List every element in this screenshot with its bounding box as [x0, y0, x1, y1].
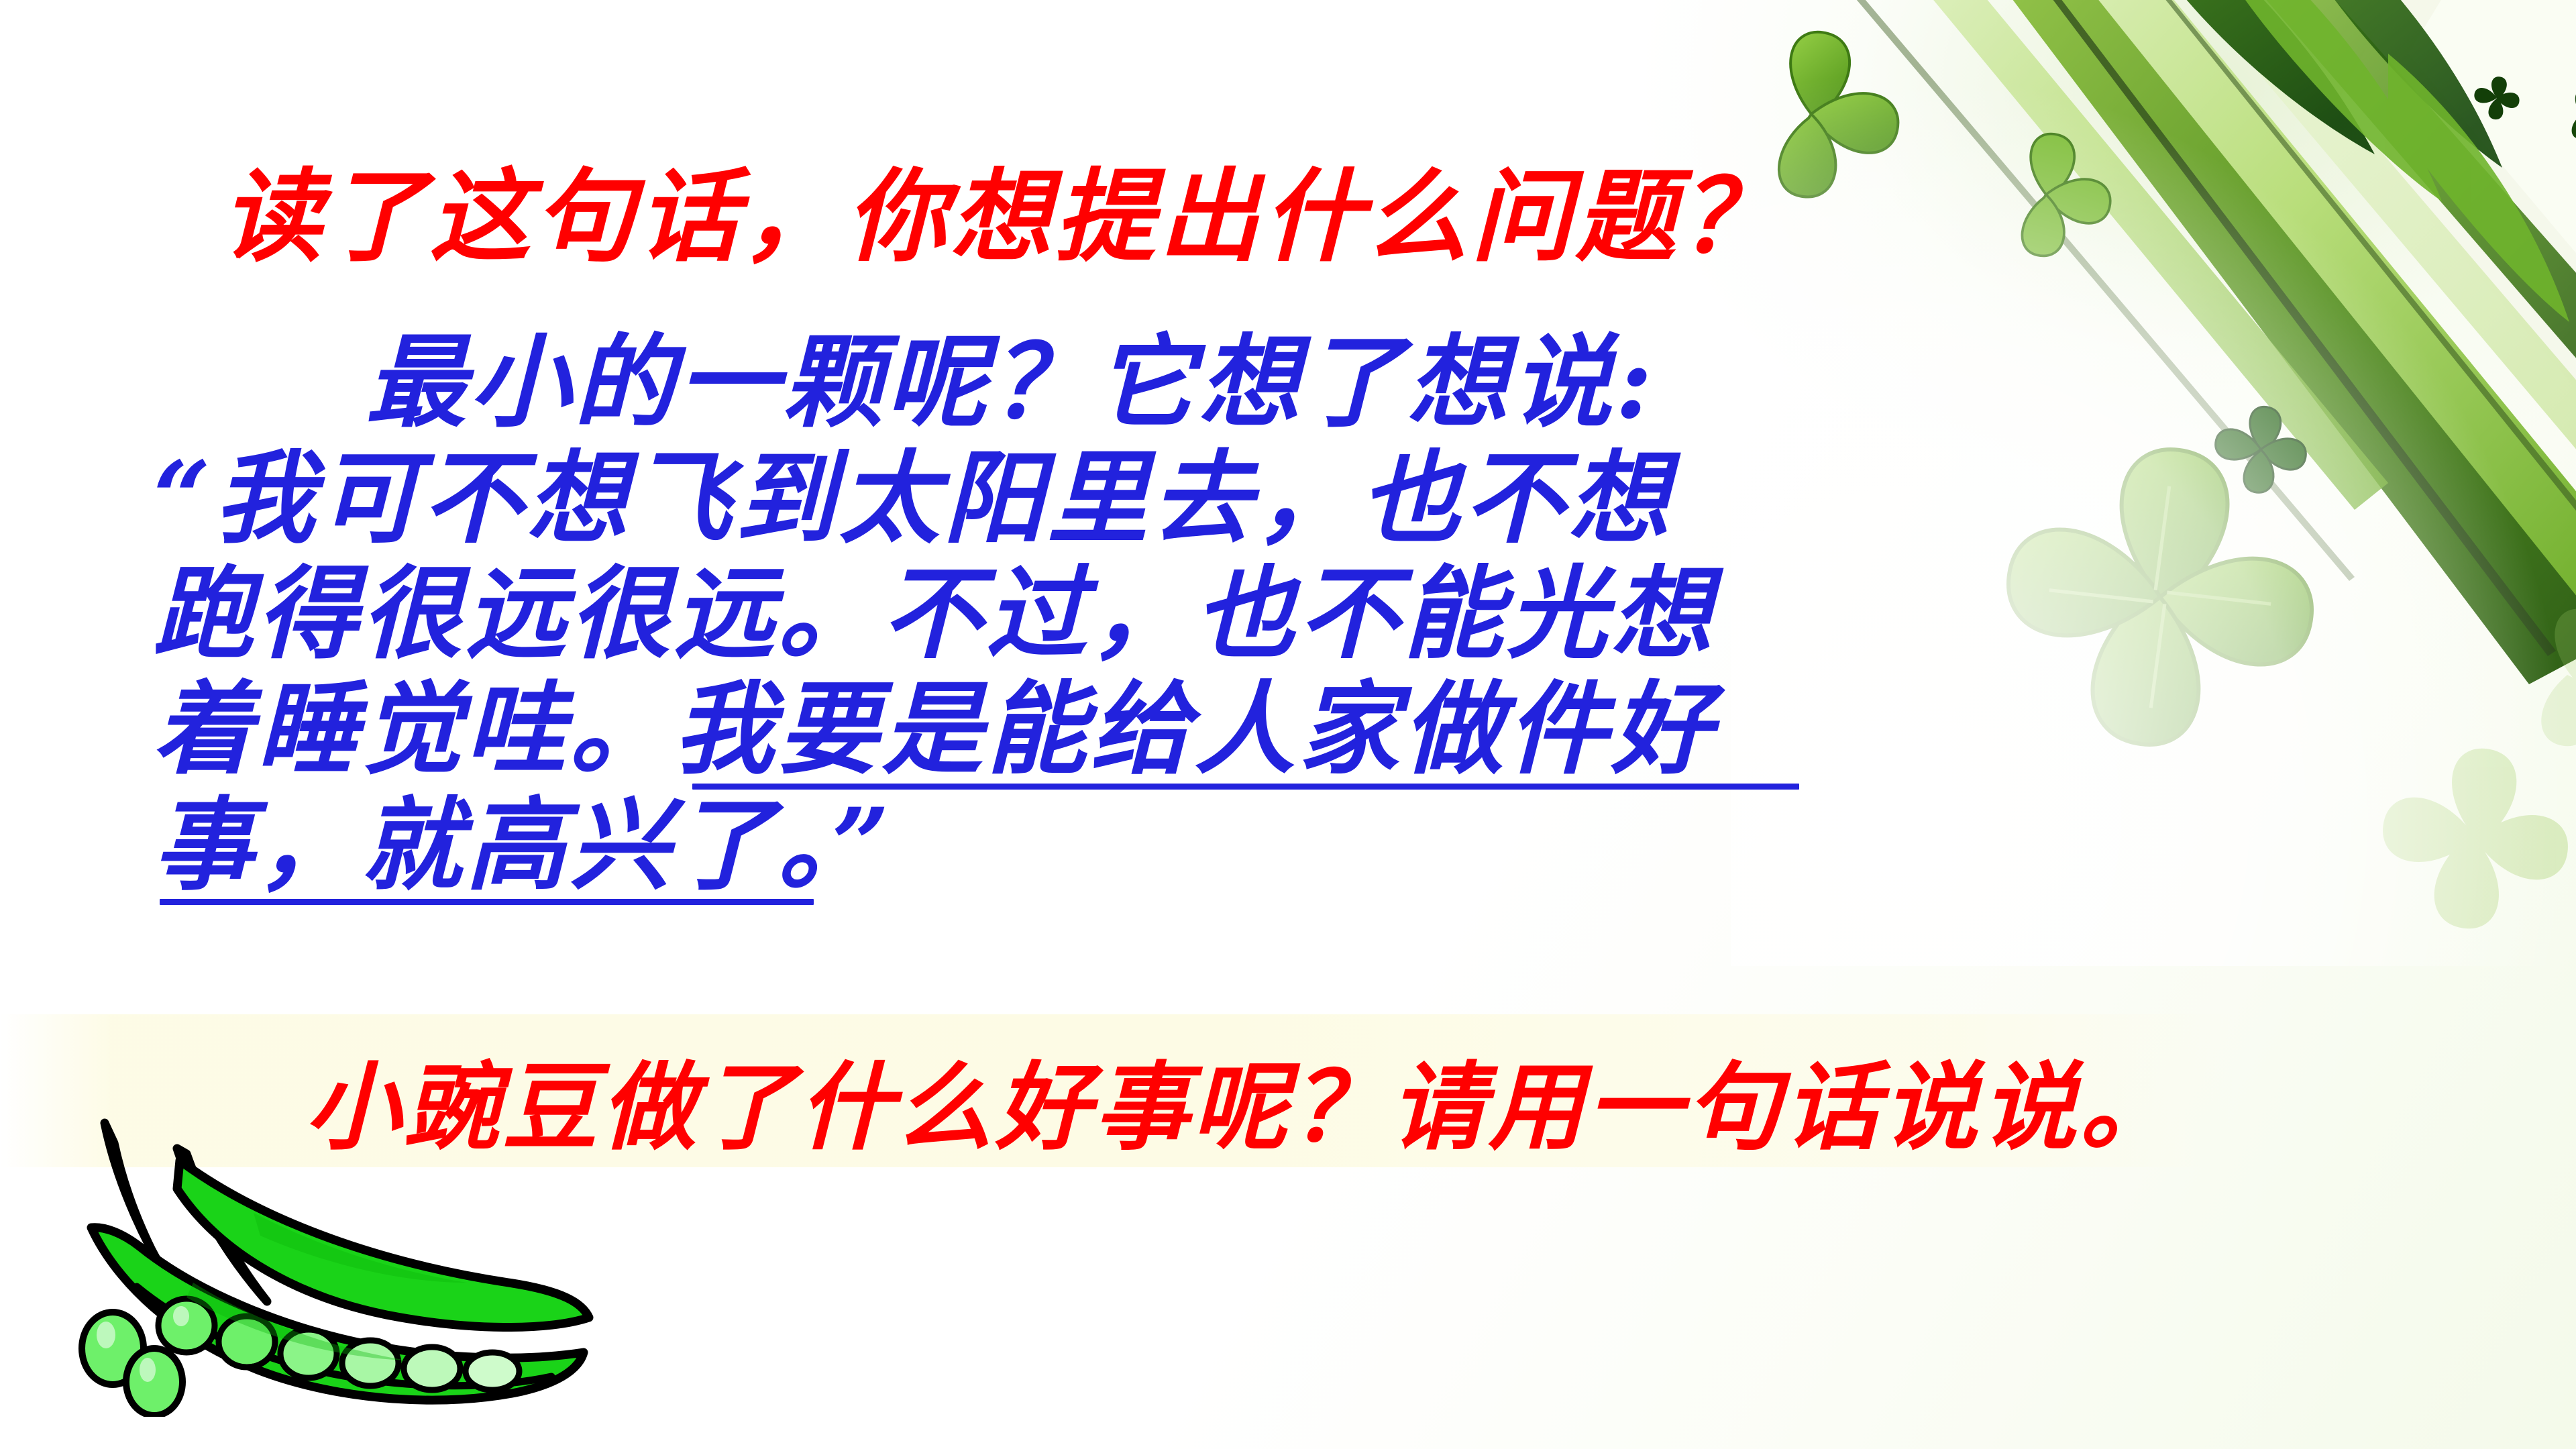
paragraph-line-1: 最小的一颗呢？它想了想说: [366, 332, 1656, 433]
text-layer: 读了这句话，你想提出什么问题？ 最小的一颗呢？它想了想说: “我可不想飞到太阳里… [0, 0, 2576, 1449]
title-question: 读了这句话，你想提出什么问题？ [221, 166, 1784, 267]
paragraph-line-4: 着睡觉哇。我要是能给人家做件好 [153, 679, 1715, 780]
bottom-prompt: 小豌豆做了什么好事呢？请用一句话说说。 [305, 1060, 2178, 1155]
paragraph-line-3: 跑得很远很远。不过，也不能光想 [153, 563, 1715, 664]
paragraph-line-5: 事，就高兴了。” [153, 795, 893, 896]
paragraph-line-2: “我可不想飞到太阳里去，也不想 [153, 448, 1672, 549]
slide-canvas: 读了这句话，你想提出什么问题？ 最小的一颗呢？它想了想说: “我可不想飞到太阳里… [0, 0, 2576, 1449]
underline-segment-2 [160, 899, 814, 905]
underline-segment-1 [692, 784, 1799, 790]
